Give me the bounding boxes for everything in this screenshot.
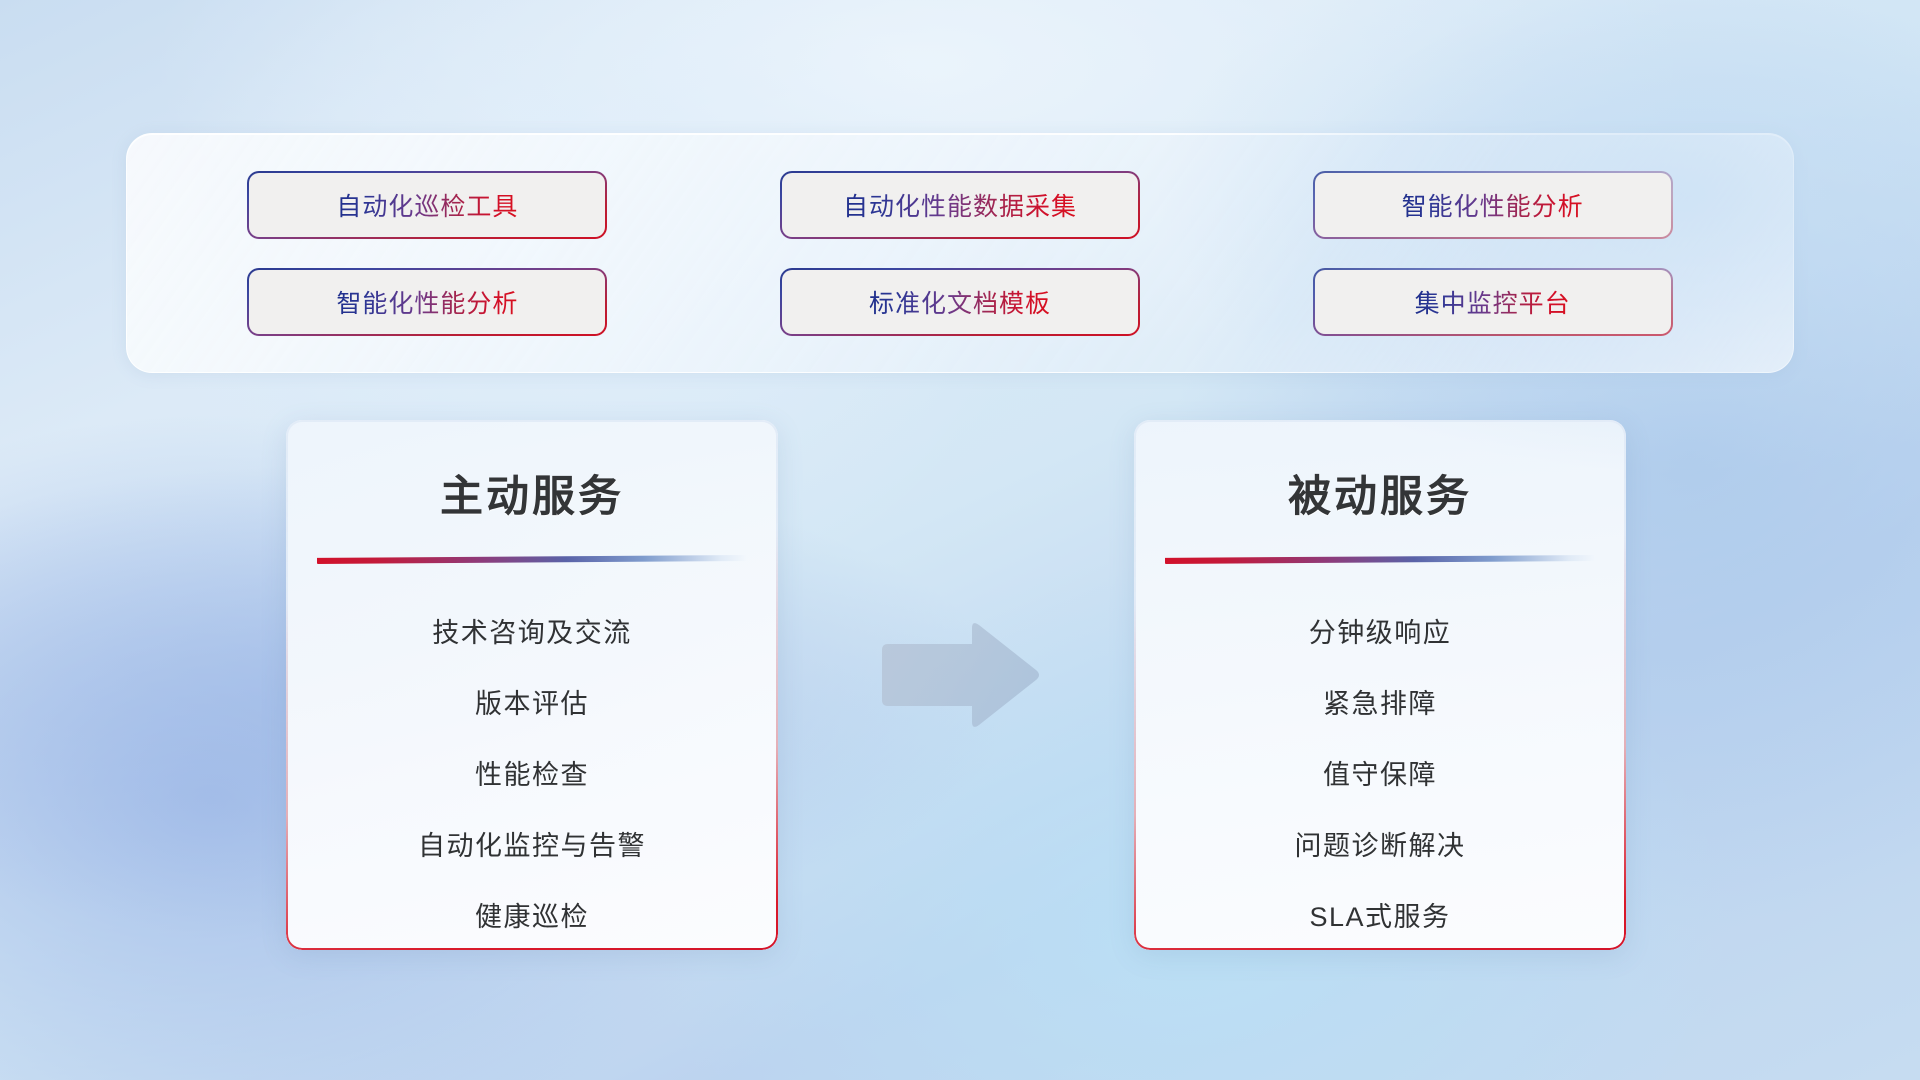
list-item: SLA式服务: [1309, 882, 1450, 950]
card-divider: [1165, 555, 1595, 564]
capability-tag-surface: 集中监控平台: [1315, 270, 1671, 334]
slide-canvas: 自动化巡检工具 自动化性能数据采集 智能化性能分析 智能化性能分析 标准化文档模…: [0, 0, 1920, 1080]
list-item: 版本评估: [475, 669, 589, 740]
card-item-list: 技术咨询及交流 版本评估 性能检查 自动化监控与告警 健康巡检: [286, 564, 778, 950]
capability-tag-surface: 标准化文档模板: [782, 270, 1138, 334]
capability-tag-label: 智能化性能分析: [1402, 187, 1584, 223]
capability-tag[interactable]: 集中监控平台: [1315, 270, 1671, 334]
list-item: 值守保障: [1323, 740, 1437, 811]
capability-tag-label: 集中监控平台: [1415, 284, 1571, 320]
capability-tag[interactable]: 自动化性能数据采集: [782, 173, 1138, 237]
service-card-reactive[interactable]: 被动服务 分钟级响应 紧急排障 值守保障 问题诊断解决 SLA式服务: [1134, 420, 1626, 950]
list-item: 性能检查: [475, 740, 589, 811]
capability-tag[interactable]: 智能化性能分析: [249, 270, 605, 334]
list-item: 问题诊断解决: [1295, 811, 1466, 882]
list-item: 紧急排障: [1323, 669, 1437, 740]
capability-tag[interactable]: 自动化巡检工具: [249, 173, 605, 237]
capability-tag-label: 智能化性能分析: [336, 284, 518, 320]
capability-tag-panel: 自动化巡检工具 自动化性能数据采集 智能化性能分析 智能化性能分析 标准化文档模…: [126, 133, 1794, 373]
list-item: 分钟级响应: [1309, 598, 1452, 669]
flow-arrow-right-icon: [876, 620, 1042, 730]
capability-tag[interactable]: 标准化文档模板: [782, 270, 1138, 334]
card-title: 被动服务: [1134, 462, 1626, 524]
card-title: 主动服务: [286, 462, 778, 524]
capability-tag-label: 自动化巡检工具: [336, 187, 518, 223]
capability-tag-surface: 自动化巡检工具: [249, 173, 605, 237]
card-item-list: 分钟级响应 紧急排障 值守保障 问题诊断解决 SLA式服务: [1134, 564, 1626, 950]
capability-tag-label: 标准化文档模板: [869, 284, 1051, 320]
capability-tag[interactable]: 智能化性能分析: [1315, 173, 1671, 237]
list-item: 自动化监控与告警: [418, 811, 646, 882]
capability-tag-surface: 智能化性能分析: [249, 270, 605, 334]
service-card-proactive[interactable]: 主动服务 技术咨询及交流 版本评估 性能检查 自动化监控与告警 健康巡检: [286, 420, 778, 950]
capability-tag-surface: 智能化性能分析: [1315, 173, 1671, 237]
capability-tag-surface: 自动化性能数据采集: [782, 173, 1138, 237]
list-item: 技术咨询及交流: [432, 598, 632, 669]
list-item: 健康巡检: [475, 882, 589, 950]
capability-tag-label: 自动化性能数据采集: [843, 187, 1077, 223]
card-divider: [317, 555, 747, 564]
